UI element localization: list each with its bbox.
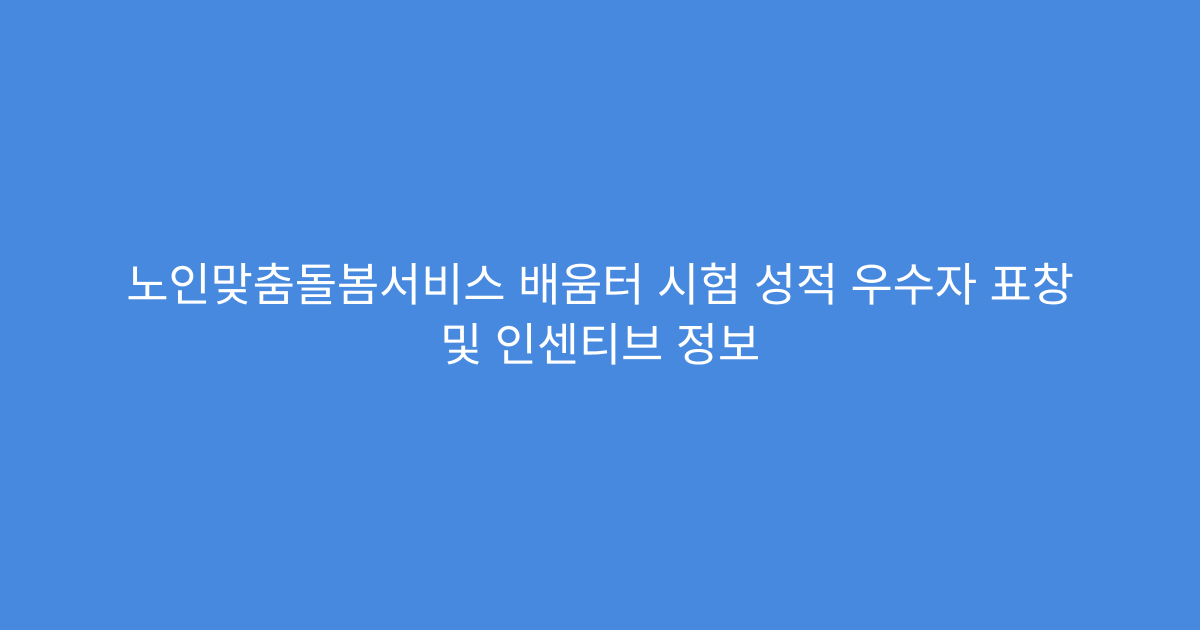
page-title-line-1: 노인맞춤돌봄서비스 배움터 시험 성적 우수자 표창	[48, 255, 1152, 315]
og-banner-card: 노인맞춤돌봄서비스 배움터 시험 성적 우수자 표창 및 인센티브 정보	[0, 0, 1200, 630]
page-title: 노인맞춤돌봄서비스 배움터 시험 성적 우수자 표창 및 인센티브 정보	[48, 255, 1152, 375]
page-title-line-2: 및 인센티브 정보	[48, 315, 1152, 375]
